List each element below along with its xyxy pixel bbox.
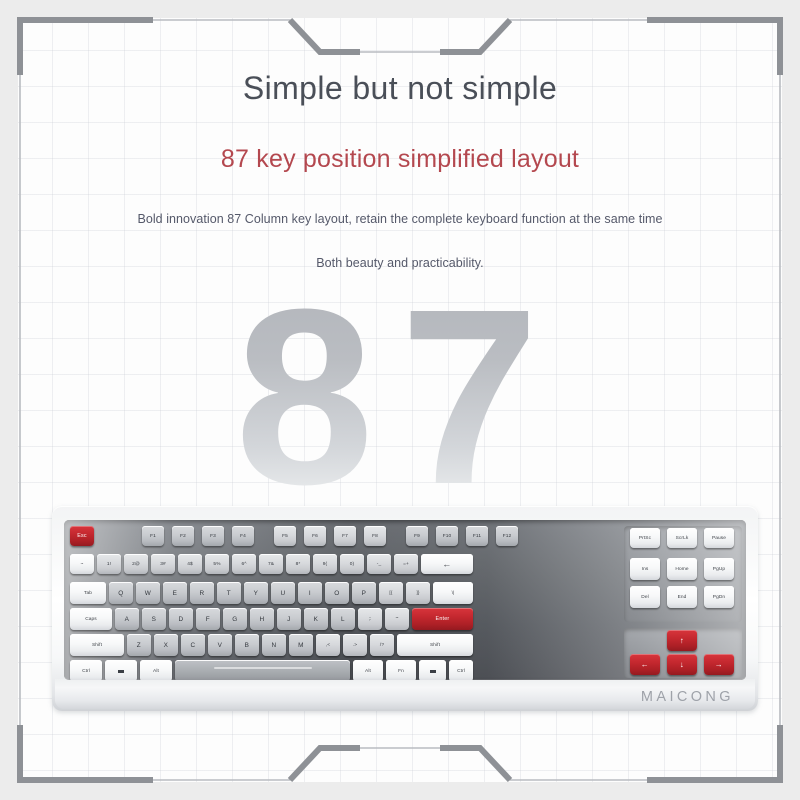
key-semicolon[interactable]: ;: — [358, 608, 382, 630]
key-y[interactable]: Y — [244, 582, 268, 604]
key-2[interactable]: 2@ — [124, 554, 148, 574]
key-f8[interactable]: F8 — [364, 526, 386, 546]
key-f12[interactable]: F12 — [496, 526, 518, 546]
key-o[interactable]: O — [325, 582, 349, 604]
key-f1[interactable]: F1 — [142, 526, 164, 546]
key-d[interactable]: D — [169, 608, 193, 630]
key-fn[interactable]: Fn — [386, 660, 416, 680]
body-line-1: Bold innovation 87 Column key layout, re… — [0, 212, 800, 226]
key-ins[interactable]: Ins — [630, 558, 660, 580]
key-prtsc[interactable]: PrtSc — [630, 528, 660, 548]
key-backspace[interactable]: ← — [421, 554, 473, 574]
key-1[interactable]: 1! — [97, 554, 121, 574]
key-period[interactable]: .> — [343, 634, 367, 656]
key-5[interactable]: 5% — [205, 554, 229, 574]
key-home[interactable]: Home — [667, 558, 697, 580]
key-r[interactable]: R — [190, 582, 214, 604]
product-banner: 87 Simple but not simple 87 key position… — [0, 0, 800, 800]
key-f3[interactable]: F3 — [202, 526, 224, 546]
key-7[interactable]: 7& — [259, 554, 283, 574]
key-tab[interactable]: Tab — [70, 582, 106, 604]
key-f10[interactable]: F10 — [436, 526, 458, 546]
key-pause[interactable]: Pause — [704, 528, 734, 548]
key-backslash[interactable]: \| — [433, 582, 473, 604]
keyboard-keyplate: Esc F1 F2 F3 F4 F5 F6 F7 F8 F9 F10 F11 F… — [64, 520, 746, 680]
key-f6[interactable]: F6 — [304, 526, 326, 546]
keyboard-product-image: MAICONG Esc F1 F2 F3 F4 F5 F6 F7 F8 F9 F… — [52, 498, 758, 733]
brand-logo: MAICONG — [641, 689, 734, 705]
key-equals[interactable]: =+ — [394, 554, 418, 574]
key-arrow-down[interactable]: ↓ — [667, 654, 697, 675]
watermark-87: 87 — [0, 272, 800, 522]
key-p[interactable]: P — [352, 582, 376, 604]
menu-icon — [430, 670, 436, 673]
key-8[interactable]: 8* — [286, 554, 310, 574]
key-alt-left[interactable]: Alt — [140, 660, 172, 680]
key-x[interactable]: X — [154, 634, 178, 656]
key-q[interactable]: Q — [109, 582, 133, 604]
key-j[interactable]: J — [277, 608, 301, 630]
key-bracket-right[interactable]: ]} — [406, 582, 430, 604]
menu-icon — [118, 670, 124, 673]
key-v[interactable]: V — [208, 634, 232, 656]
key-3[interactable]: 3# — [151, 554, 175, 574]
key-s[interactable]: S — [142, 608, 166, 630]
key-m[interactable]: M — [289, 634, 313, 656]
key-del[interactable]: Del — [630, 586, 660, 608]
key-f2[interactable]: F2 — [172, 526, 194, 546]
key-f7[interactable]: F7 — [334, 526, 356, 546]
key-z[interactable]: Z — [127, 634, 151, 656]
key-shift-right[interactable]: Shift — [397, 634, 473, 656]
key-capslock[interactable]: Caps — [70, 608, 112, 630]
key-tilde[interactable]: ~ — [70, 554, 94, 574]
key-shift-left[interactable]: Shift — [70, 634, 124, 656]
key-n[interactable]: N — [262, 634, 286, 656]
key-ctrl-left[interactable]: Ctrl — [70, 660, 102, 680]
key-comma[interactable]: ,< — [316, 634, 340, 656]
page-title: Simple but not simple — [0, 70, 800, 107]
key-i[interactable]: I — [298, 582, 322, 604]
key-9[interactable]: 9( — [313, 554, 337, 574]
key-0[interactable]: 0) — [340, 554, 364, 574]
key-end[interactable]: End — [667, 586, 697, 608]
key-spacebar[interactable] — [175, 660, 350, 680]
key-6[interactable]: 6^ — [232, 554, 256, 574]
key-arrow-left[interactable]: ← — [630, 654, 660, 675]
key-esc[interactable]: Esc — [70, 526, 94, 546]
key-quote[interactable]: '" — [385, 608, 409, 630]
key-g[interactable]: G — [223, 608, 247, 630]
key-arrow-up[interactable]: ↑ — [667, 630, 697, 651]
key-menu-left[interactable] — [105, 660, 137, 680]
keyboard-case: MAICONG Esc F1 F2 F3 F4 F5 F6 F7 F8 F9 F… — [52, 506, 758, 711]
key-minus[interactable]: -_ — [367, 554, 391, 574]
key-menu-right[interactable] — [419, 660, 446, 680]
key-f5[interactable]: F5 — [274, 526, 296, 546]
key-f9[interactable]: F9 — [406, 526, 428, 546]
key-w[interactable]: W — [136, 582, 160, 604]
key-f4[interactable]: F4 — [232, 526, 254, 546]
key-bracket-left[interactable]: [{ — [379, 582, 403, 604]
key-k[interactable]: K — [304, 608, 328, 630]
key-f[interactable]: F — [196, 608, 220, 630]
key-arrow-right[interactable]: → — [704, 654, 734, 675]
key-c[interactable]: C — [181, 634, 205, 656]
key-a[interactable]: A — [115, 608, 139, 630]
key-alt-right[interactable]: Alt — [353, 660, 383, 680]
key-t[interactable]: T — [217, 582, 241, 604]
heading-block: Simple but not simple 87 key position si… — [0, 70, 800, 300]
key-ctrl-right[interactable]: Ctrl — [449, 660, 473, 680]
body-line-2: Both beauty and practicability. — [0, 256, 800, 270]
page-subtitle: 87 key position simplified layout — [0, 145, 800, 174]
key-scrlk[interactable]: ScrLk — [667, 528, 697, 548]
key-4[interactable]: 4$ — [178, 554, 202, 574]
key-pgup[interactable]: PgUp — [704, 558, 734, 580]
key-u[interactable]: U — [271, 582, 295, 604]
key-slash[interactable]: /? — [370, 634, 394, 656]
key-pgdn[interactable]: PgDn — [704, 586, 734, 608]
key-f11[interactable]: F11 — [466, 526, 488, 546]
key-b[interactable]: B — [235, 634, 259, 656]
key-l[interactable]: L — [331, 608, 355, 630]
key-enter[interactable]: Enter — [412, 608, 473, 630]
key-h[interactable]: H — [250, 608, 274, 630]
key-e[interactable]: E — [163, 582, 187, 604]
